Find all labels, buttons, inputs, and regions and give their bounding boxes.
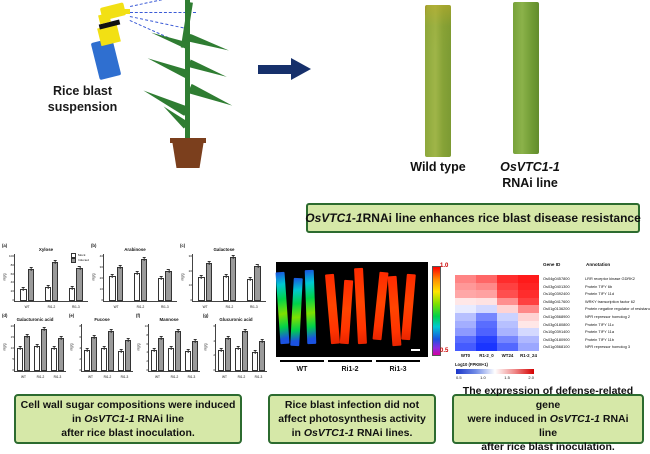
bar: [41, 329, 47, 371]
heatmap-cell: [476, 321, 497, 329]
bar: [192, 341, 198, 371]
photosynthesis-leaf: [401, 274, 416, 341]
heatmap-cell: [476, 305, 497, 313]
caption-box-2-line3-prefix: in: [292, 427, 304, 439]
heatmap-annotation: NPR repressor homolog 3: [585, 343, 630, 351]
caption-box-1-line2-prefix: in: [72, 413, 84, 425]
error-bar: [87, 348, 88, 352]
heatmap-cell: [497, 328, 518, 336]
heatmap-cell: [518, 336, 539, 344]
heatmap-header-geneid: Gene ID: [543, 262, 560, 267]
x-axis-tick: Ri1-2: [39, 305, 63, 309]
spray-ray: [130, 0, 191, 7]
chart-legend: MockInfected: [71, 253, 89, 263]
bar: [45, 287, 51, 301]
error-bar: [168, 269, 169, 273]
heatmap-cell: [476, 328, 497, 336]
caption-box-2-line3: in OsVTC1-1 RNAi lines.: [292, 426, 413, 440]
plant-leaf: [141, 86, 189, 116]
heatmap-cell: [497, 336, 518, 344]
error-bar: [201, 275, 202, 279]
error-bar: [120, 265, 121, 269]
heatmap-row-label: Os03g0180800Protein TIFY 11c: [543, 321, 650, 329]
x-axis-tick: Ri1-3: [242, 305, 266, 309]
arrow-head: [291, 58, 311, 80]
headline-gene: OsVTC1-1: [305, 211, 362, 225]
heatmap-annotation: Protein TIFY 11b: [585, 336, 614, 344]
leaf-photo-rnai: [513, 2, 539, 154]
error-bar: [120, 349, 121, 353]
error-bar: [94, 335, 95, 339]
panel-title: Glucuronic acid: [203, 317, 269, 322]
bar-chart-panel: (g)Glucuronic acid6420mg/gWTRi1-2Ri1-3: [203, 313, 269, 381]
heatmap-cell: [497, 313, 518, 321]
heatmap-legend-tick: 0.5: [456, 375, 462, 380]
photosynthesis-group-label: Ri1-2: [328, 366, 372, 373]
photosynthesis-leaf: [340, 280, 353, 344]
flow-arrow-icon: [258, 58, 316, 80]
bar-group: WT: [15, 254, 39, 301]
heatmap-column-label: R1-2_0: [476, 353, 497, 358]
y-axis-label: mg/g: [3, 343, 7, 350]
panel-title: Galactose: [180, 247, 268, 252]
headline-rest: RNAi line enhances rice blast disease re…: [363, 211, 641, 225]
bar-group: Ri1-3: [49, 324, 66, 371]
heatmap-gene-id: Os03g0180900: [543, 336, 581, 344]
caption-box-1-line3: after rice blast inoculation.: [61, 426, 195, 440]
heatmap-row-labels: Os04g0457800LRR receptor kinase GDRK2Os0…: [543, 275, 650, 351]
error-bar: [72, 286, 73, 290]
bar-group: Ri1-3: [116, 324, 133, 371]
heatmap-row-label: Os01g0568100NPR repressor homolog 3: [543, 343, 650, 351]
photosynthesis-imaging-panel: 1.0 0.5 WTRi1-2Ri1-3: [276, 262, 448, 384]
heatmap-annotation: Protein TIFY 11c: [585, 321, 614, 329]
error-bar: [178, 329, 179, 333]
heatmap-gene-id: Os01g0568100: [543, 343, 581, 351]
bar: [109, 276, 115, 302]
leaf-photo-wildtype: [425, 5, 451, 157]
heatmap-gene-id: Os01g0136200: [543, 305, 581, 313]
heatmap-cell: [455, 290, 476, 298]
photosynthesis-image: [276, 262, 428, 357]
caption-box-3-line2-gene: OsVTC1-1: [550, 413, 600, 425]
error-bar: [161, 336, 162, 340]
bar-group: Ri1-3: [242, 254, 266, 301]
y-axis-label: mg/g: [137, 343, 141, 350]
heatmap-cell: [476, 343, 497, 351]
caption-box-1-line2-gene: OsVTC1-1: [84, 413, 134, 425]
bar-group: Ri1-2: [166, 324, 183, 371]
plant-leaf: [188, 84, 234, 111]
panel-title: Arabinose: [91, 247, 179, 252]
y-axis-ticks: 6420: [207, 324, 215, 372]
scale-bar: [411, 349, 420, 352]
leaf-caption-rnai-text: RNAi line: [502, 176, 558, 190]
legend-swatch: [71, 258, 76, 263]
bar: [225, 338, 231, 371]
bar-group: WT: [104, 254, 128, 301]
error-bar: [221, 348, 222, 352]
x-axis-tick: WT: [104, 305, 128, 309]
heatmap-legend-tick: 1.5: [504, 375, 510, 380]
heatmap-cell: [497, 283, 518, 291]
bar-group: WT: [216, 324, 233, 371]
y-axis-label: mg/g: [3, 273, 7, 280]
bar-group: Ri1-2: [217, 254, 241, 301]
photosynthesis-colorbar-max: 1.0: [440, 263, 448, 269]
heatmap-annotation: Protein negative regulator of resistance: [585, 305, 650, 313]
bar: [108, 331, 114, 371]
leaf-caption-wildtype-text: Wild type: [410, 160, 465, 174]
bar-chart-panel: (d)Galacturonic acid20151050mg/gWTRi1-2R…: [2, 313, 68, 381]
bar: [28, 269, 34, 301]
bar: [118, 351, 124, 371]
heatmap-cell: [497, 321, 518, 329]
plant-leaf: [188, 59, 228, 80]
heatmap-cell: [455, 321, 476, 329]
photosynthesis-leaf: [325, 274, 340, 345]
leaf-caption-rnai-gene: OsVTC1-1: [500, 160, 560, 174]
heatmap-legend-title: Log10 (FPKM+1): [455, 362, 488, 367]
headline-banner: OsVTC1-1 RNAi line enhances rice blast d…: [306, 203, 640, 233]
x-axis-tick: WT: [193, 305, 217, 309]
caption-box-1-line2-suffix: RNAi line: [134, 413, 184, 425]
plant-pot: [172, 140, 204, 168]
y-axis-label: mg/g: [70, 343, 74, 350]
heatmap-annotation: Protein TIFY 11d: [585, 290, 614, 298]
heatmap-legend-tick: 1.0: [480, 375, 486, 380]
bar-group: Ri1-3: [153, 254, 177, 301]
legend-label: Mock: [78, 253, 85, 258]
x-axis-tick: Ri1-3: [183, 375, 200, 379]
heatmap-legend-bar: [456, 369, 534, 374]
heatmap-grid: [455, 275, 539, 351]
error-bar: [48, 285, 49, 289]
y-axis-ticks: 1086420: [140, 324, 148, 372]
heatmap-row-label: Os01g0136200Protein negative regulator o…: [543, 305, 650, 313]
bar-chart-panel: (f)Mannose1086420mg/gWTRi1-2Ri1-3: [136, 313, 202, 381]
heatmap-row-label: Os10g0391400Protein TIFY 11a: [543, 328, 650, 336]
error-bar: [61, 336, 62, 340]
bar: [20, 289, 26, 301]
heatmap-header-annotation: Annotation: [586, 262, 610, 267]
leaf-photos-panel: Wild type OsVTC1-1 RNAi line: [380, 0, 650, 195]
legend-item: Infected: [71, 258, 89, 263]
heatmap-cell: [518, 275, 539, 283]
heatmap-row-label: Os04g0457800LRR receptor kinase GDRK2: [543, 275, 650, 283]
heatmap-annotation: Protein TIFY 6b: [585, 283, 612, 291]
x-axis-tick: WT: [216, 375, 233, 379]
bar: [58, 338, 64, 371]
bar: [175, 331, 181, 371]
bar: [51, 348, 57, 371]
error-bar: [257, 264, 258, 268]
y-axis-label: mg/g: [181, 273, 185, 280]
caption-box-1-line2: in OsVTC1-1 RNAi line: [72, 412, 184, 426]
heatmap-gene-id: Os10g0392400: [543, 290, 581, 298]
caption-box-3-line1: The expression of defense-related gene: [458, 384, 638, 412]
heatmap-column-label: R1-2_24: [518, 353, 539, 358]
heatmap-gene-id: Os03g0180800: [543, 321, 581, 329]
error-bar: [112, 274, 113, 278]
x-axis-tick: Ri1-2: [166, 375, 183, 379]
bar: [254, 266, 260, 301]
heatmap-cell: [497, 305, 518, 313]
bar-chart-panel: (b)Arabinose403020100mg/gWTRi1-2Ri1-3: [91, 243, 179, 311]
x-axis-tick: Ri1-2: [32, 375, 49, 379]
caption-box-1-line1: Cell wall sugar compositions were induce…: [21, 398, 236, 412]
y-axis-ticks: 3020100: [184, 254, 192, 302]
heatmap-cell: [476, 283, 497, 291]
heatmap-cell: [497, 298, 518, 306]
heatmap-legend-tick: 2.0: [528, 375, 534, 380]
error-bar: [233, 255, 234, 259]
plot-area: WTRi1-2Ri1-3: [81, 324, 133, 372]
panel-title: Galacturonic acid: [2, 317, 68, 322]
error-bar: [262, 339, 263, 343]
error-bar: [228, 336, 229, 340]
bar: [235, 348, 241, 371]
arrow-shaft: [258, 65, 294, 74]
heatmap-gene-id: Os04g0457800: [543, 275, 581, 283]
heatmap-legend-ticks: 0.51.01.52.0: [456, 375, 534, 380]
bar: [34, 346, 40, 372]
cell-wall-sugar-charts: (a)Xylose100806040200mg/gWTRi1-2Ri1-3Moc…: [2, 243, 270, 388]
heatmap-cell: [518, 298, 539, 306]
heatmap-cell: [497, 275, 518, 283]
heatmap-gene-id: Os03g0401300: [543, 283, 581, 291]
error-bar: [245, 329, 246, 333]
error-bar: [111, 329, 112, 333]
heatmap-column-labels: WT0R1-2_0WT24R1-2_24: [455, 353, 539, 358]
x-axis-tick: Ri1-2: [217, 305, 241, 309]
heatmap-cell: [518, 343, 539, 351]
bar-group: Ri1-2: [32, 324, 49, 371]
photosynthesis-colorbar-min: 0.5: [440, 348, 448, 354]
bar-group: Ri1-2: [233, 324, 250, 371]
heatmap-cell: [455, 305, 476, 313]
photosynthesis-leaf: [372, 272, 388, 341]
error-bar: [53, 346, 54, 350]
error-bar: [137, 271, 138, 275]
bar: [141, 259, 147, 301]
bar: [91, 337, 97, 371]
bar-group: Ri1-2: [99, 324, 116, 371]
error-bar: [195, 339, 196, 343]
heatmap-column-label: WT0: [455, 353, 476, 358]
heatmap-cell: [497, 290, 518, 298]
bar: [17, 348, 23, 371]
x-axis-tick: Ri1-2: [233, 375, 250, 379]
group-underline: [280, 360, 324, 362]
error-bar: [128, 338, 129, 342]
error-bar: [250, 277, 251, 281]
spray-label-line2: suspension: [25, 100, 140, 116]
error-bar: [36, 344, 37, 348]
plot-area: WTRi1-2Ri1-3: [215, 324, 267, 372]
group-underline: [328, 360, 372, 362]
heatmap-cell: [476, 313, 497, 321]
caption-box-3-line2: were induced in OsVTC1-1 RNAi line: [458, 412, 638, 440]
photosynthesis-leaf: [290, 278, 303, 346]
x-axis-tick: WT: [15, 375, 32, 379]
error-bar: [254, 350, 255, 354]
caption-box-2-line3-gene: OsVTC1-1: [304, 427, 354, 439]
y-axis-ticks: 20151050: [6, 324, 14, 372]
bar-group: WT: [15, 324, 32, 371]
heatmap-cell: [455, 313, 476, 321]
bar: [158, 338, 164, 371]
x-axis-tick: WT: [149, 375, 166, 379]
panel-title: Xylose: [2, 247, 90, 252]
plant-leaf: [146, 54, 190, 79]
heatmap-cell: [518, 290, 539, 298]
panel-title: Fucose: [69, 317, 135, 322]
leaf-caption-wildtype: Wild type: [388, 160, 488, 176]
bar: [206, 263, 212, 301]
x-axis-tick: Ri1-3: [64, 305, 88, 309]
heatmap-row-label: Os08g0417600WRKY transcription factor 62: [543, 298, 650, 306]
heatmap-gene-id: Os10g0391400: [543, 328, 581, 336]
bar: [223, 276, 229, 302]
bar: [198, 277, 204, 301]
bar: [24, 336, 30, 371]
spray-ray: [130, 16, 189, 29]
y-axis-ticks: 100806040200: [6, 254, 14, 302]
heatmap-cell: [476, 290, 497, 298]
heatmap-row-label: Os03g0180900Protein TIFY 11b: [543, 336, 650, 344]
photosynthesis-leaf: [354, 268, 367, 344]
caption-box-2-line1: Rice blast infection did not: [285, 398, 419, 412]
spray-illustration: Rice blast suspension: [0, 0, 330, 200]
plot-area: WTRi1-2Ri1-3: [103, 254, 177, 302]
heatmap-row-label: Os10g0392400Protein TIFY 11d: [543, 290, 650, 298]
error-bar: [20, 346, 21, 350]
heatmap-column-label: WT24: [497, 353, 518, 358]
heatmap-cell: [455, 283, 476, 291]
x-axis-tick: Ri1-3: [116, 375, 133, 379]
heatmap-cell: [455, 298, 476, 306]
heatmap-cell: [455, 275, 476, 283]
leaf-caption-rnai: OsVTC1-1 RNAi line: [480, 160, 580, 191]
photosynthesis-leaf: [305, 270, 317, 344]
plot-area: WTRi1-2Ri1-3: [148, 324, 200, 372]
bar-chart-panel: (c)Galactose3020100mg/gWTRi1-2Ri1-3: [180, 243, 268, 311]
heatmap-cell: [518, 321, 539, 329]
heatmap-cell: [518, 313, 539, 321]
photosynthesis-leaf: [275, 272, 289, 344]
photosynthesis-leaf: [388, 276, 402, 346]
error-bar: [161, 276, 162, 280]
caption-box-defense-genes: The expression of defense-related gene w…: [452, 394, 644, 444]
caption-box-cell-wall: Cell wall sugar compositions were induce…: [14, 394, 242, 444]
bar: [76, 268, 82, 301]
caption-box-2-line2: affect photosynthesis activity: [278, 412, 426, 426]
photosynthesis-group-label: WT: [280, 366, 324, 373]
heatmap-cell: [518, 328, 539, 336]
bar: [252, 352, 258, 371]
heatmap-cell: [476, 336, 497, 344]
heatmap-cell: [455, 343, 476, 351]
bar-group: WT: [82, 324, 99, 371]
heatmap-annotation: WRKY transcription factor 62: [585, 298, 635, 306]
error-bar: [187, 349, 188, 353]
bar: [101, 348, 107, 371]
error-bar: [154, 348, 155, 352]
heatmap-cell: [455, 336, 476, 344]
bar: [52, 262, 58, 301]
error-bar: [31, 267, 32, 271]
bar-group: WT: [193, 254, 217, 301]
heatmap-annotation: NPR repressor homolog 2: [585, 313, 630, 321]
bar: [185, 351, 191, 371]
bar: [151, 350, 157, 371]
bar: [84, 350, 90, 371]
error-bar: [44, 327, 45, 331]
bar-group: Ri1-3: [183, 324, 200, 371]
heatmap-annotation: Protein TIFY 11a: [585, 328, 614, 336]
gene-expression-heatmap-panel: Gene ID Annotation Os04g0457800LRR recep…: [455, 258, 650, 386]
x-axis-tick: Ri1-3: [250, 375, 267, 379]
heatmap-row-label: Os03g0401300Protein TIFY 6b: [543, 283, 650, 291]
heatmap-gene-id: Os01g0568900: [543, 313, 581, 321]
error-bar: [27, 334, 28, 338]
heatmap-cell: [476, 275, 497, 283]
x-axis-tick: Ri1-3: [153, 305, 177, 309]
bar-chart-panel: (a)Xylose100806040200mg/gWTRi1-2Ri1-3Moc…: [2, 243, 90, 311]
heatmap-gene-id: Os08g0417600: [543, 298, 581, 306]
y-axis-label: mg/g: [204, 343, 208, 350]
heatmap-cell: [518, 283, 539, 291]
x-axis-tick: Ri1-2: [128, 305, 152, 309]
bar: [247, 279, 253, 301]
spray-label-line1: Rice blast: [25, 84, 140, 100]
x-axis-tick: Ri1-3: [49, 375, 66, 379]
heatmap-cell: [476, 298, 497, 306]
caption-box-photosynthesis: Rice blast infection did not affect phot…: [268, 394, 436, 444]
caption-box-2-line3-suffix: RNAi lines.: [354, 427, 412, 439]
caption-box-3-line2-prefix: were induced in: [467, 413, 549, 425]
bar: [158, 278, 164, 301]
bar-group: Ri1-2: [128, 254, 152, 301]
panel-title: Mannose: [136, 317, 202, 322]
error-bar: [144, 257, 145, 261]
error-bar: [79, 266, 80, 270]
error-bar: [23, 287, 24, 291]
bar: [117, 267, 123, 301]
y-axis-label: mg/g: [92, 273, 96, 280]
heatmap-cell: [455, 328, 476, 336]
error-bar: [55, 260, 56, 264]
x-axis-tick: Ri1-2: [99, 375, 116, 379]
heatmap-row-label: Os01g0568900NPR repressor homolog 2: [543, 313, 650, 321]
group-underline: [376, 360, 420, 362]
bar: [69, 288, 75, 301]
plant-leaf: [188, 34, 230, 55]
x-axis-tick: WT: [82, 375, 99, 379]
bar-chart-panel: (e)Fucose86420mg/gWTRi1-2Ri1-3: [69, 313, 135, 381]
y-axis-ticks: 403020100: [95, 254, 103, 302]
bar: [168, 348, 174, 371]
bar: [165, 271, 171, 301]
error-bar: [103, 346, 104, 350]
error-bar: [237, 346, 238, 350]
caption-box-3-line3: after rice blast inoculation.: [481, 440, 615, 454]
legend-label: Infected: [78, 258, 89, 263]
x-axis-tick: WT: [15, 305, 39, 309]
y-axis-ticks: 86420: [73, 324, 81, 372]
bar: [125, 340, 131, 371]
